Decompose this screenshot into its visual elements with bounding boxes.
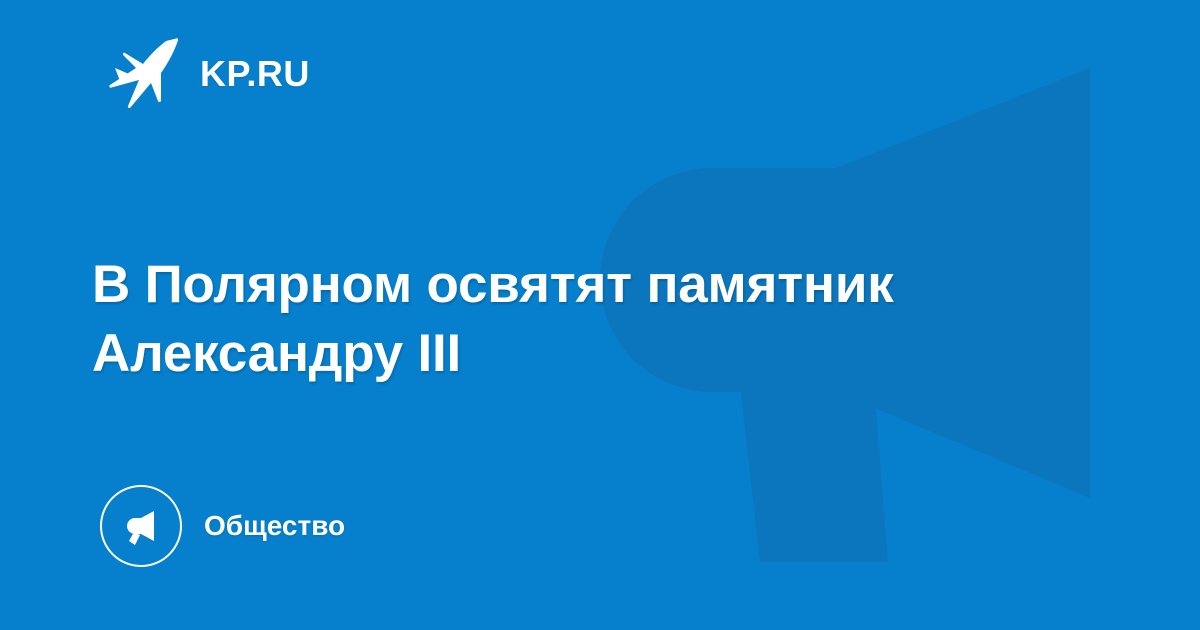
category-badge[interactable]: Общество: [100, 484, 345, 568]
site-logo-text: KP.RU: [200, 56, 310, 92]
swallow-bird-icon: [106, 38, 182, 110]
megaphone-icon: [118, 503, 164, 549]
article-headline: В Полярном освятят памятник Александру I…: [92, 250, 997, 390]
site-logo[interactable]: KP.RU: [106, 38, 310, 110]
category-label: Общество: [204, 512, 345, 540]
category-icon-ring: [100, 485, 182, 567]
social-share-card: KP.RU В Полярном освятят памятник Алекса…: [0, 0, 1200, 630]
